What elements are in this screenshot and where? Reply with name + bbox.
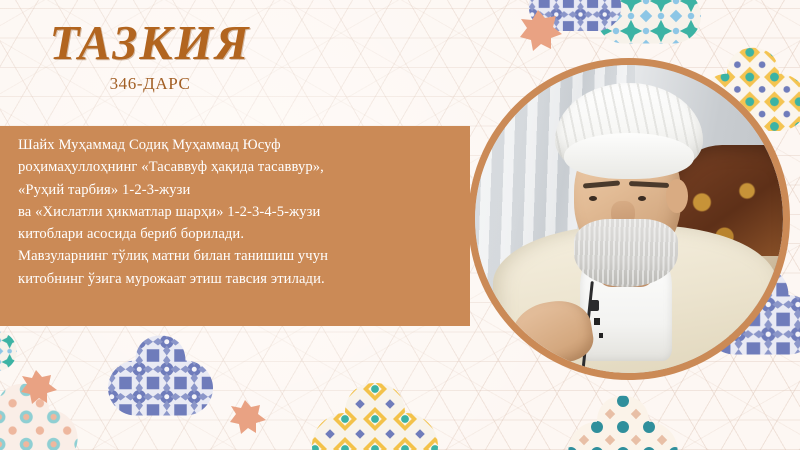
masthead: ТАЗКИЯ 346-ДАРС [0,18,300,94]
photo-lapel-mic [589,300,599,311]
poster-canvas: Шайх Муҳаммад Содиқ Муҳаммад Юсуф роҳима… [0,0,800,450]
ornament-quatrefoil-bottom-center-yellow [312,383,438,450]
description-text: Шайх Муҳаммад Содиқ Муҳаммад Юсуф роҳима… [18,134,450,290]
portrait-frame [468,58,790,380]
ornament-star-top-center [520,10,562,51]
photo-ear [666,179,688,213]
photo-turban-band [564,133,693,179]
page-title: ТАЗКИЯ [0,18,300,67]
ornament-quatrefoil-bottom-blue [108,336,213,416]
portrait-photo [475,65,783,373]
ornament-star-bottom-center [230,400,266,434]
photo-eye-left [589,196,597,201]
photo-beard [574,219,679,287]
lesson-number-label: 346-ДАРС [0,74,300,94]
ornament-quatrefoil-bottom-right-teal [568,396,677,450]
